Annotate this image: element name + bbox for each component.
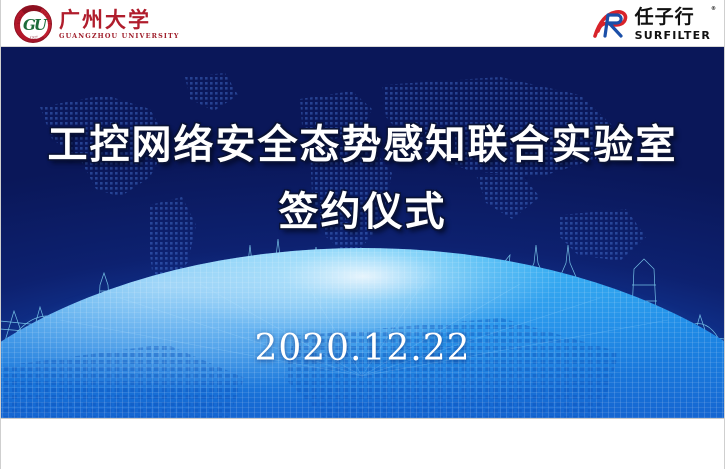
- seal-arc-text-bottom: 1927: [29, 35, 38, 40]
- title-block: 工控网络安全态势感知联合实验室 签约仪式: [0, 122, 725, 236]
- main-title-line-2: 签约仪式: [0, 189, 725, 236]
- seal-arc-text: GUANGZHOU UNIVERSITY 1927: [15, 6, 53, 44]
- header-bar: GUANGZHOU UNIVERSITY 1927 GU 广州大学 GUANGZ…: [0, 0, 725, 47]
- horizon-glow-decoration: [0, 226, 725, 376]
- main-title-line-1: 工控网络安全态势感知联合实验室: [0, 122, 725, 169]
- footer-white-strip: [0, 418, 725, 469]
- registered-trademark-icon: ®: [711, 7, 717, 12]
- presentation-slide: 工控网络安全态势感知联合实验室 签约仪式 2020.12.22 GUANGZHO…: [0, 0, 725, 469]
- seal-arc-text-top: GUANGZHOU UNIVERSITY: [15, 6, 52, 26]
- guangzhou-university-wordmark: 广州大学 GUANGZHOU UNIVERSITY: [59, 9, 180, 39]
- university-name-en: GUANGZHOU UNIVERSITY: [59, 33, 180, 39]
- light-rays-decoration: [0, 258, 725, 378]
- company-name-cn: 任子行 ®: [635, 8, 711, 27]
- surfilter-r-mark-icon: [592, 9, 630, 39]
- globe-dot-grid: [0, 248, 725, 418]
- slide-left-border: [0, 0, 1, 469]
- surfilter-wordmark: 任子行 ® SURFILTER: [635, 8, 711, 41]
- globe-continents-decoration: [0, 248, 725, 418]
- guangzhou-university-logo: GUANGZHOU UNIVERSITY 1927 GU 广州大学 GUANGZ…: [14, 3, 180, 45]
- event-date: 2020.12.22: [0, 328, 725, 369]
- surfilter-logo: 任子行 ® SURFILTER: [592, 5, 711, 43]
- slide-stage-background: 工控网络安全态势感知联合实验室 签约仪式 2020.12.22: [0, 47, 725, 418]
- globe-sheen: [0, 248, 725, 418]
- company-name-en: SURFILTER: [635, 30, 711, 41]
- dotted-world-map-decoration: [0, 47, 725, 307]
- globe-surface-decoration: [0, 248, 725, 418]
- city-skyline-decoration: [0, 233, 725, 363]
- university-name-cn: 广州大学: [59, 9, 180, 30]
- guangzhou-university-seal-icon: GUANGZHOU UNIVERSITY 1927 GU: [14, 5, 52, 43]
- company-name-cn-text: 任子行: [635, 6, 695, 28]
